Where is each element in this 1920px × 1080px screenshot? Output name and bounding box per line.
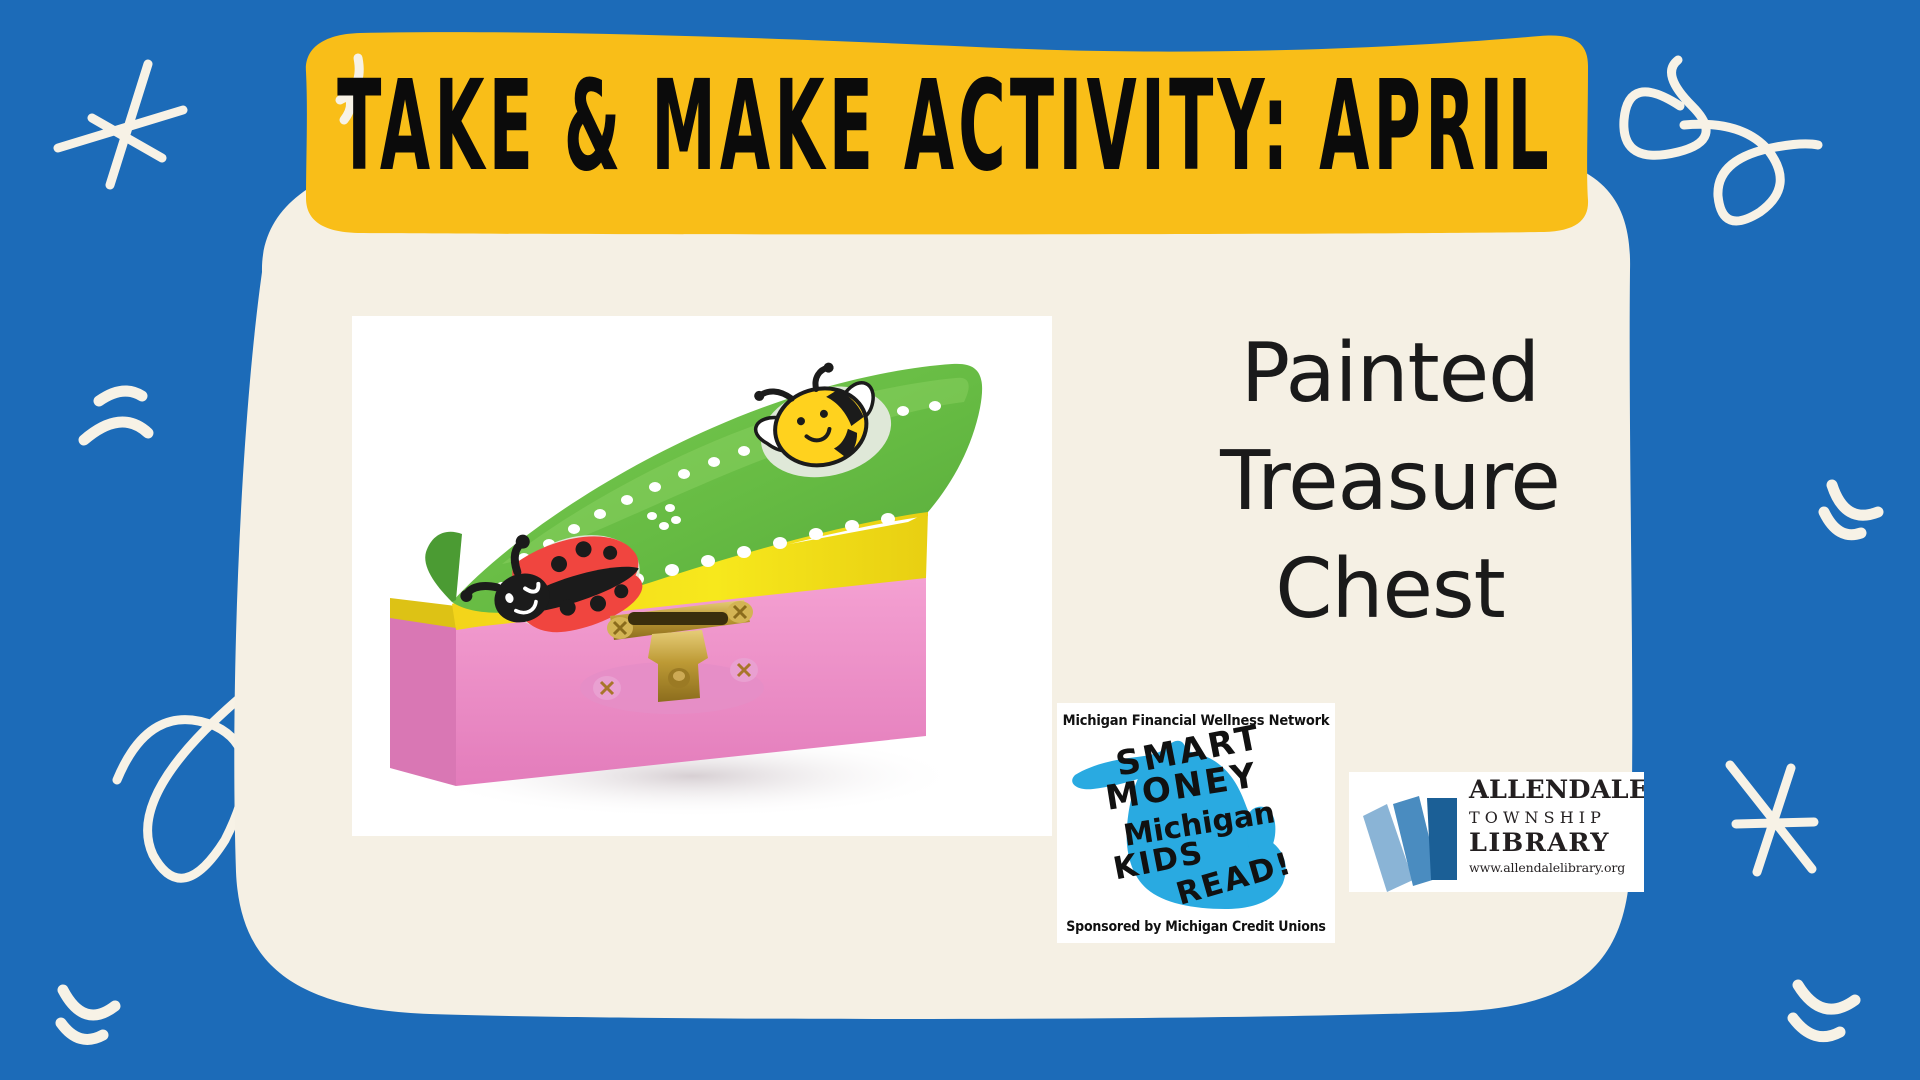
headline-line-1: Painted xyxy=(1110,320,1670,428)
star-doodle-top-left xyxy=(58,64,183,185)
library-name-line-3: LIBRARY xyxy=(1469,831,1644,857)
library-name-line-1: ALLENDALE xyxy=(1469,778,1644,804)
double-arc-doodle-bottom-right xyxy=(1793,985,1855,1037)
painted-treasure-chest-photo xyxy=(352,316,1052,836)
swirl-doodle-top-right xyxy=(1624,60,1818,221)
double-arc-doodle-right xyxy=(1824,485,1878,535)
library-website: www.allendalelibrary.org xyxy=(1469,862,1644,875)
smart-money-michigan-logo: Michigan Financial Wellness Network SMAR… xyxy=(1057,703,1335,943)
star-doodle-bottom-right xyxy=(1730,765,1814,872)
banner-title: TAKE & MAKE ACTIVITY: APRIL xyxy=(416,26,1474,225)
headline-line-3: Chest xyxy=(1110,536,1670,644)
page-title: Painted Treasure Chest xyxy=(1110,320,1670,645)
poster-canvas: TAKE & MAKE ACTIVITY: APRIL xyxy=(0,0,1920,1080)
double-arc-doodle-bottom-left xyxy=(61,990,115,1039)
double-arc-doodle-left xyxy=(84,391,148,440)
smart-money-sponsor-text: Sponsored by Michigan Credit Unions xyxy=(1057,919,1335,935)
allendale-township-library-logo: ALLENDALE TOWNSHIP LIBRARY www.allendale… xyxy=(1349,772,1644,892)
smart-money-top-text: Michigan Financial Wellness Network xyxy=(1057,713,1335,729)
library-name-line-2: TOWNSHIP xyxy=(1469,810,1644,826)
headline-line-2: Treasure xyxy=(1110,428,1670,536)
three-tilted-book-spines-icon xyxy=(1353,776,1473,892)
